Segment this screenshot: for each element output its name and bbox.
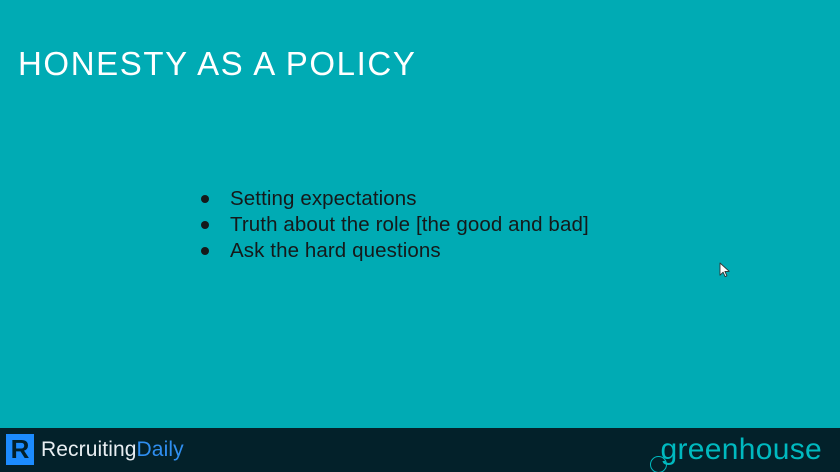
list-item: Truth about the role [the good and bad] xyxy=(196,212,616,238)
recruitingdaily-logo: R RecruitingDaily xyxy=(6,434,184,465)
list-item-text: Ask the hard questions xyxy=(230,239,441,262)
list-item-text: Truth about the role [the good and bad] xyxy=(230,213,589,236)
list-item: Setting expectations xyxy=(196,186,616,212)
bullet-list: Setting expectations Truth about the rol… xyxy=(196,186,616,264)
mouse-cursor-icon xyxy=(719,262,731,279)
bullet-dot-icon xyxy=(201,195,209,203)
bullet-dot-icon xyxy=(201,221,209,229)
presentation-slide: HONESTY AS A POLICY Setting expectations… xyxy=(0,0,840,472)
list-item-text: Setting expectations xyxy=(230,187,417,210)
slide-title: HONESTY AS A POLICY xyxy=(18,44,416,84)
greenhouse-logo: greenhouse xyxy=(646,430,822,472)
greenhouse-circle-icon xyxy=(650,456,667,472)
recruitingdaily-word-daily: Daily xyxy=(137,438,184,461)
recruitingdaily-wordmark: RecruitingDaily xyxy=(41,434,184,465)
greenhouse-wordmark: greenhouse xyxy=(661,433,822,467)
slide-footer-bar: R RecruitingDaily greenhouse xyxy=(0,428,840,472)
bullet-dot-icon xyxy=(201,247,209,255)
recruitingdaily-word-recruiting: Recruiting xyxy=(41,438,137,461)
recruitingdaily-r-mark-icon: R xyxy=(6,434,34,465)
list-item: Ask the hard questions xyxy=(196,238,616,264)
